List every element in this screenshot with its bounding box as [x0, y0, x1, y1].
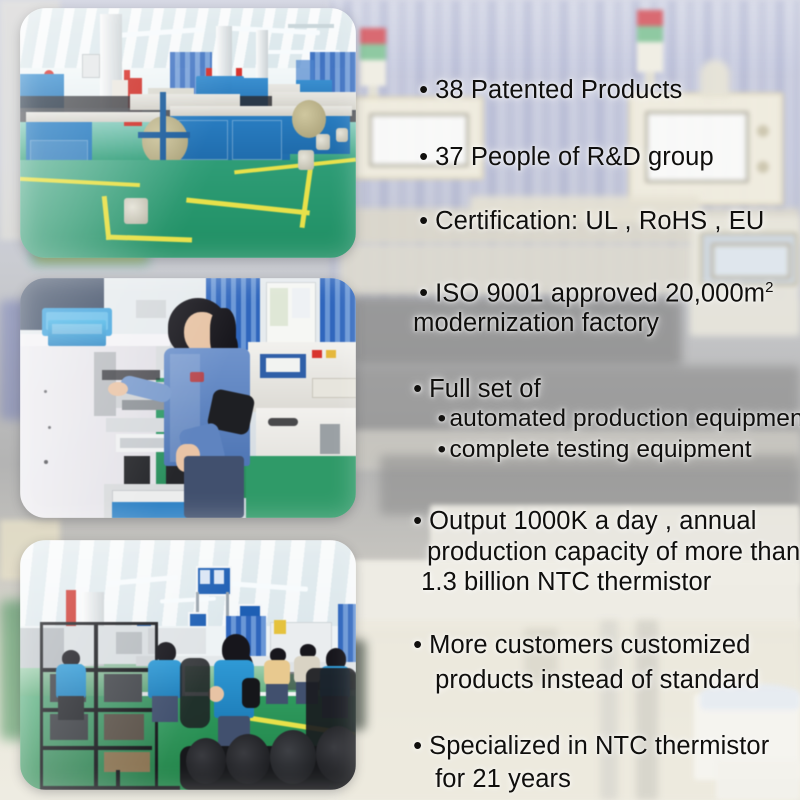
bullet-specialized-line2: for 21 years: [392, 735, 571, 800]
bullet-list: •38 Patented Products •37 People of R&D …: [360, 0, 800, 800]
photo-production-line: [20, 8, 356, 258]
bullet-marker: •: [419, 76, 435, 106]
photo-assembly-workshop: [20, 540, 356, 790]
bullet-testing-equipment-line1: complete testing equipment: [449, 436, 751, 463]
bullet-patents-line1: 38 Patented Products: [435, 76, 682, 104]
slide-canvas: •38 Patented Products •37 People of R&D …: [0, 0, 800, 800]
photo-operator-machine: [20, 278, 356, 518]
square-meter-superscript: 2: [765, 279, 773, 296]
bullet-marker: •: [419, 207, 435, 237]
bullet-certification-line1: Certification: UL , RoHS , EU: [435, 207, 764, 235]
bullet-marker: •: [419, 143, 435, 173]
bullet-rd-group-line1: 37 People of R&D group: [435, 143, 714, 171]
bullet-marker: •: [437, 436, 449, 465]
